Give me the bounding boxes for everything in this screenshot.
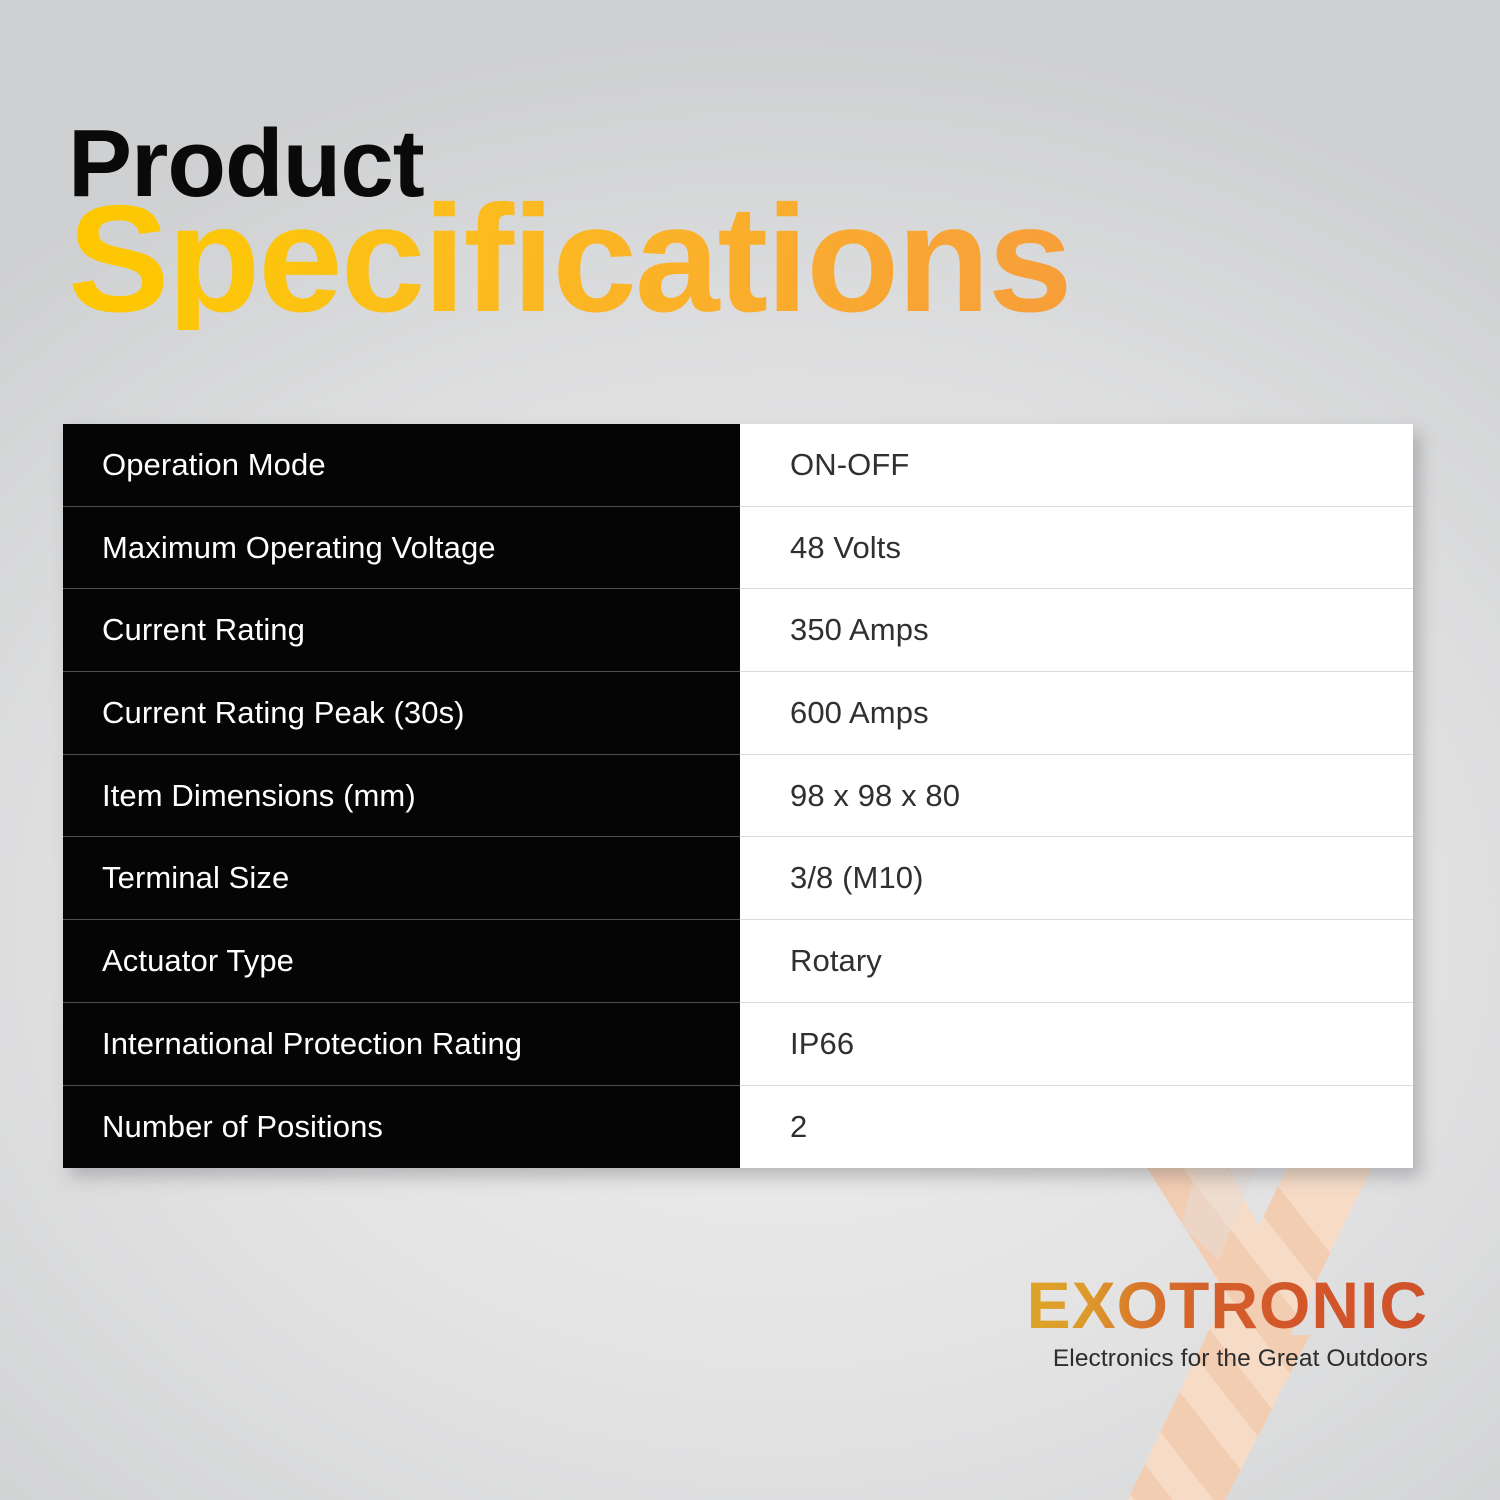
spec-label: Current Rating Peak (30s) — [63, 672, 740, 755]
spec-label: Current Rating — [63, 589, 740, 672]
table-row: Actuator Type Rotary — [63, 920, 1413, 1003]
spec-value: 2 — [740, 1086, 1413, 1169]
table-row: Current Rating 350 Amps — [63, 589, 1413, 672]
table-row: Current Rating Peak (30s) 600 Amps — [63, 672, 1413, 755]
table-row: International Protection Rating IP66 — [63, 1003, 1413, 1086]
spec-label: Terminal Size — [63, 837, 740, 920]
table-row: Terminal Size 3/8 (M10) — [63, 837, 1413, 920]
specifications-table: Operation Mode ON-OFF Maximum Operating … — [63, 424, 1413, 1168]
spec-value: 600 Amps — [740, 672, 1413, 755]
spec-value: 3/8 (M10) — [740, 837, 1413, 920]
table-row: Number of Positions 2 — [63, 1086, 1413, 1169]
specification-sheet: Product Specifications Operation Mode ON… — [0, 0, 1500, 1500]
spec-label: Actuator Type — [63, 920, 740, 1003]
brand-tagline: Electronics for the Great Outdoors — [968, 1345, 1428, 1373]
spec-value: ON-OFF — [740, 424, 1413, 507]
spec-label: International Protection Rating — [63, 1003, 740, 1086]
spec-value: 350 Amps — [740, 589, 1413, 672]
spec-label: Item Dimensions (mm) — [63, 755, 740, 838]
spec-value: 48 Volts — [740, 507, 1413, 590]
table-row: Maximum Operating Voltage 48 Volts — [63, 507, 1413, 590]
page-title-secondary: Specifications — [68, 190, 1468, 330]
spec-value: 98 x 98 x 80 — [740, 755, 1413, 838]
table-row: Operation Mode ON-OFF — [63, 424, 1413, 507]
spec-label: Number of Positions — [63, 1086, 740, 1169]
page-title: Product Specifications — [68, 118, 1468, 330]
spec-label: Maximum Operating Voltage — [63, 507, 740, 590]
spec-value: IP66 — [740, 1003, 1413, 1086]
brand-wordmark: EXOTRONIC — [968, 1272, 1428, 1338]
table-row: Item Dimensions (mm) 98 x 98 x 80 — [63, 755, 1413, 838]
spec-label: Operation Mode — [63, 424, 740, 507]
brand-logo: EXOTRONIC Electronics for the Great Outd… — [968, 1272, 1428, 1373]
spec-value: Rotary — [740, 920, 1413, 1003]
